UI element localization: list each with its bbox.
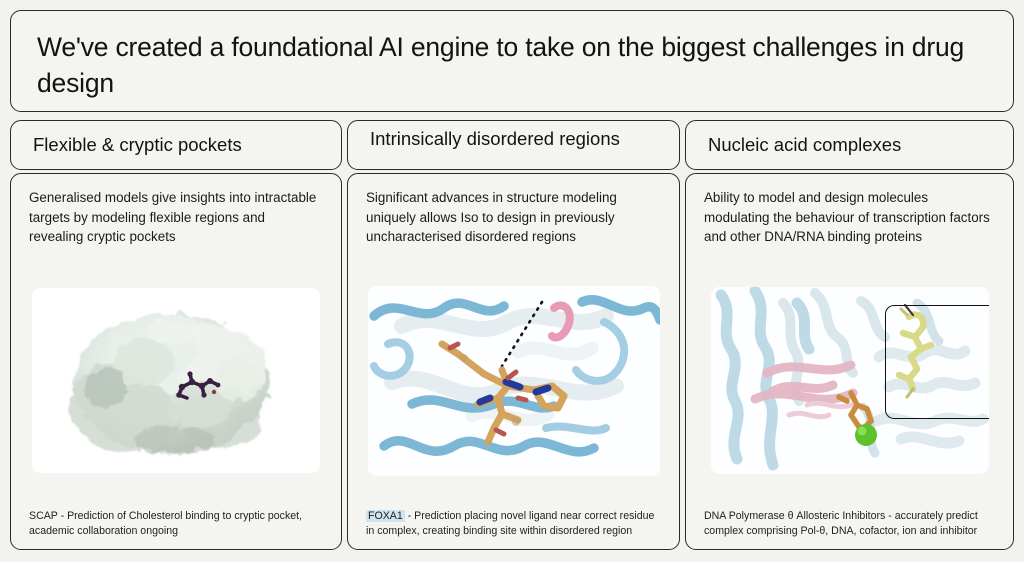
- figure-wrap-1: [29, 260, 323, 501]
- caption-text-3: DNA Polymerase θ Allosteric Inhibitors -…: [704, 510, 978, 537]
- ribbon-ligand-binding-site-image: [368, 286, 660, 476]
- caption-text-2: - Prediction placing novel ligand near c…: [366, 510, 654, 537]
- figure-wrap-3: [704, 260, 995, 501]
- column-nucleic-acid-complexes: Nucleic acid complexes Ability to model …: [685, 120, 1014, 550]
- figure-caption-3: DNA Polymerase θ Allosteric Inhibitors -…: [704, 501, 995, 539]
- column-body-card-2: Significant advances in structure modeli…: [347, 173, 680, 550]
- slide-root: We've created a foundational AI engine t…: [0, 0, 1024, 562]
- figure-wrap-2: [366, 260, 661, 501]
- column-intrinsically-disordered-regions: Intrinsically disordered regions Signifi…: [347, 120, 680, 550]
- columns-container: Flexible & cryptic pockets Generalised m…: [10, 120, 1014, 550]
- column-header-label-2: Intrinsically disordered regions: [370, 127, 620, 151]
- column-header-card-3[interactable]: Nucleic acid complexes: [685, 120, 1014, 170]
- caption-text-1: SCAP - Prediction of Cholesterol binding…: [29, 510, 302, 537]
- column-body-text-1: Generalised models give insights into in…: [29, 188, 323, 250]
- page-title: We've created a foundational AI engine t…: [37, 29, 987, 101]
- caption-target-badge-2: FOXA1: [366, 510, 405, 522]
- column-body-text-2: Significant advances in structure modeli…: [366, 188, 661, 250]
- polymerase-dna-inhibitor-complex-image: [711, 287, 989, 474]
- column-flexible-cryptic-pockets: Flexible & cryptic pockets Generalised m…: [10, 120, 342, 550]
- title-card: We've created a foundational AI engine t…: [10, 10, 1014, 112]
- figure-caption-1: SCAP - Prediction of Cholesterol binding…: [29, 501, 323, 539]
- column-body-card-3: Ability to model and design molecules mo…: [685, 173, 1014, 550]
- column-header-label-3: Nucleic acid complexes: [708, 133, 901, 157]
- column-header-card-2[interactable]: Intrinsically disordered regions: [347, 120, 680, 170]
- column-header-card-1[interactable]: Flexible & cryptic pockets: [10, 120, 342, 170]
- column-body-card-1: Generalised models give insights into in…: [10, 173, 342, 550]
- figure-caption-2: FOXA1 - Prediction placing novel ligand …: [366, 501, 661, 539]
- protein-surface-cryptic-pocket-image: [32, 288, 320, 473]
- column-body-text-3: Ability to model and design molecules mo…: [704, 188, 995, 250]
- column-header-label-1: Flexible & cryptic pockets: [33, 133, 242, 157]
